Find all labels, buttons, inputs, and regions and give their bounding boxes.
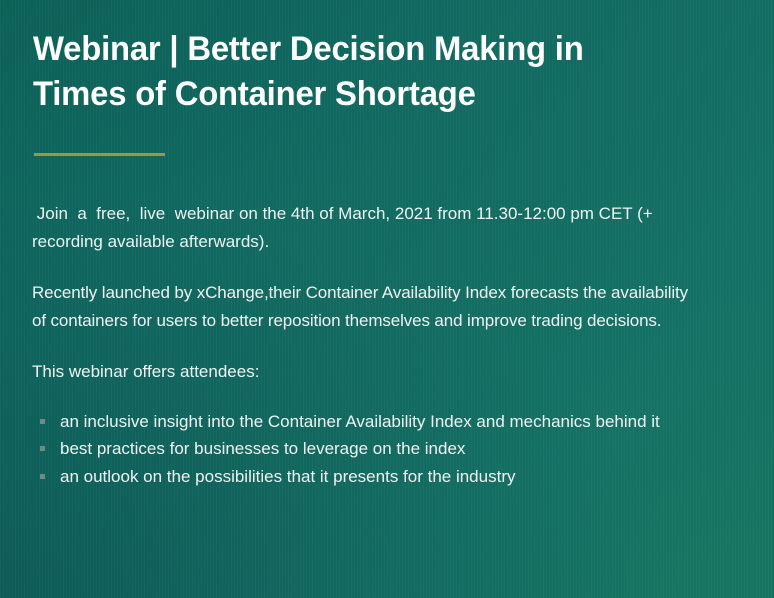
square-bullet-icon <box>40 419 45 424</box>
attendee-benefits-list: an inclusive insight into the Container … <box>32 408 700 491</box>
webinar-slide: Webinar | Better Decision Making in Time… <box>0 0 774 598</box>
square-bullet-icon <box>40 474 45 479</box>
accent-divider <box>34 153 165 156</box>
list-intro-text: This webinar offers attendees: <box>32 358 700 386</box>
slide-heading: Webinar | Better Decision Making in Time… <box>33 27 651 117</box>
list-item-label: an inclusive insight into the Container … <box>60 408 700 436</box>
square-bullet-icon <box>40 446 45 451</box>
list-item: best practices for businesses to leverag… <box>40 435 700 463</box>
list-item: an inclusive insight into the Container … <box>40 408 700 436</box>
slide-body: Join a free, live webinar on the 4th of … <box>32 200 700 490</box>
list-item: an outlook on the possibilities that it … <box>40 463 700 491</box>
list-item-label: best practices for businesses to leverag… <box>60 435 700 463</box>
list-item-label: an outlook on the possibilities that it … <box>60 463 700 491</box>
paragraph-index-description: Recently launched by xChange,their Conta… <box>32 279 700 334</box>
paragraph-event-details: Join a free, live webinar on the 4th of … <box>32 200 700 255</box>
